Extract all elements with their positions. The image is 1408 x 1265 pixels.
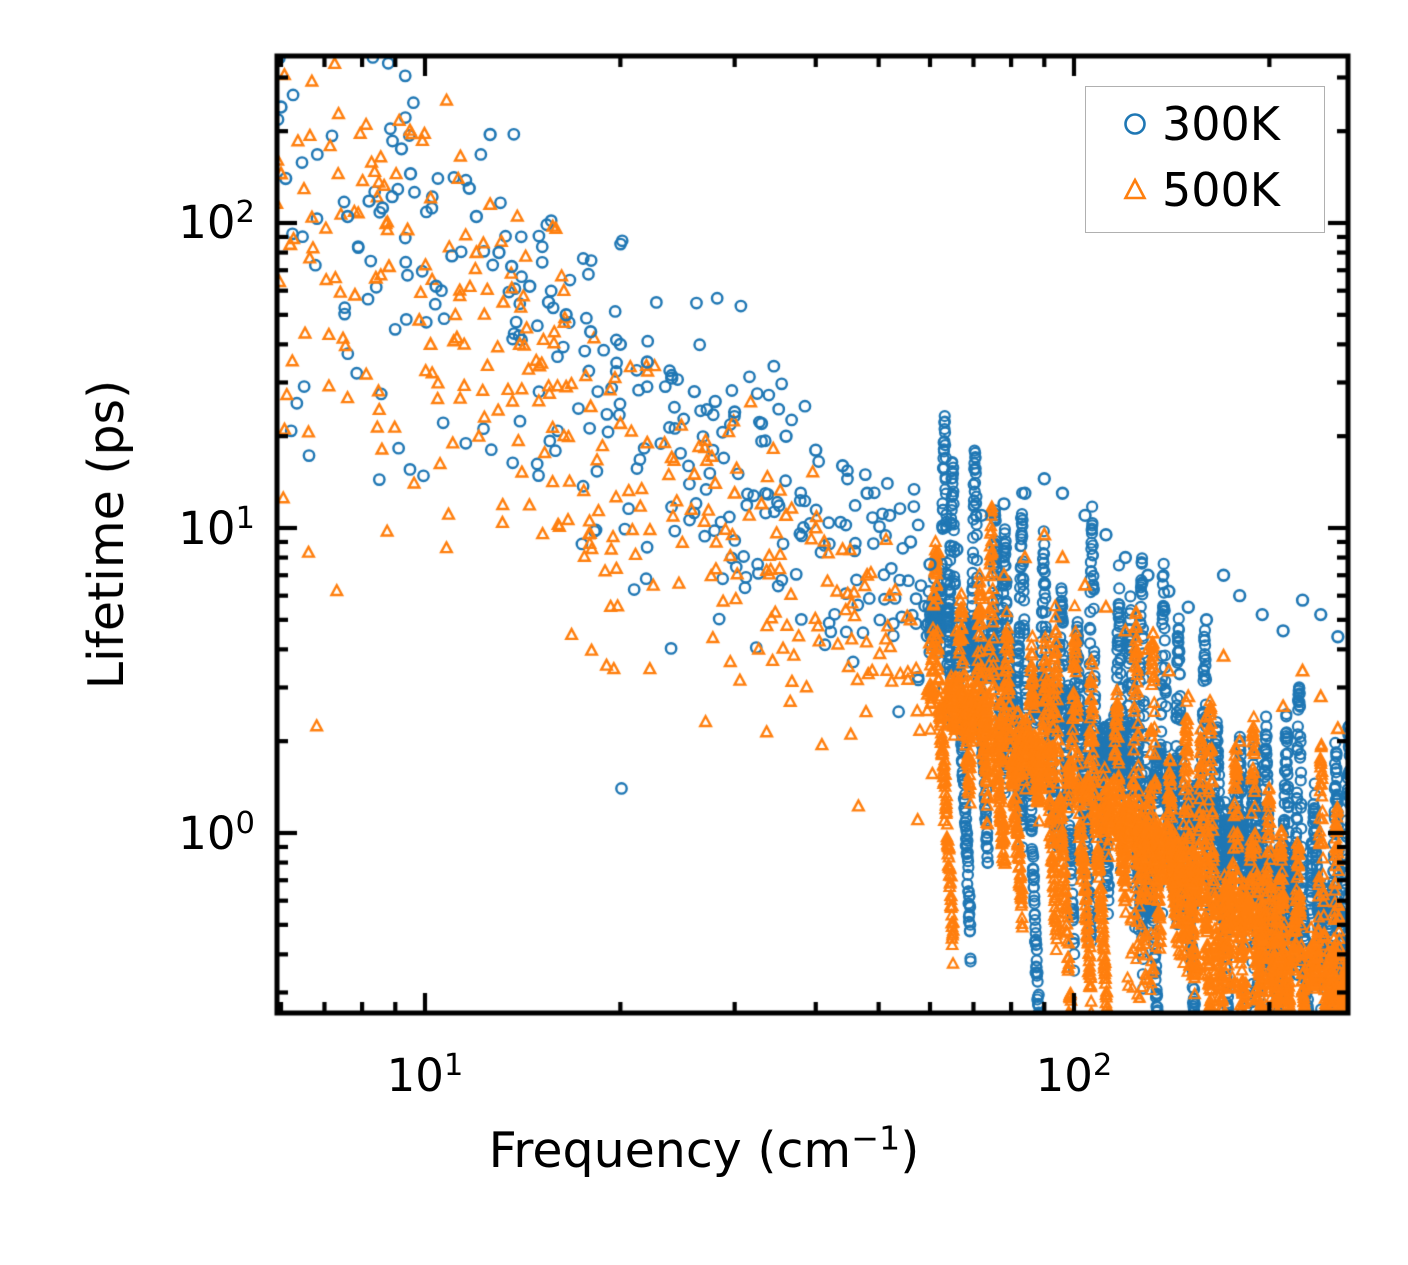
y-axis-label: Lifetime (ps) bbox=[78, 380, 135, 689]
figure-root: 101 102 100 101 102 Frequency (cm−1) Lif… bbox=[0, 0, 1408, 1265]
legend-label-300k: 300K bbox=[1162, 95, 1312, 153]
x-axis-label: Frequency (cm−1) bbox=[0, 1122, 1408, 1179]
legend-entry-300k: 300K bbox=[1086, 95, 1326, 153]
x-tick-label-10e2: 102 bbox=[1036, 1049, 1113, 1102]
x-tick-label-10e1: 101 bbox=[387, 1049, 464, 1102]
legend: 300K 500K bbox=[1085, 86, 1325, 233]
y-tick-label-10e0: 100 bbox=[178, 807, 255, 860]
y-tick-label-10e2: 102 bbox=[178, 196, 255, 249]
circle-open-marker bbox=[1112, 95, 1158, 153]
y-tick-label-10e1: 101 bbox=[178, 502, 255, 555]
legend-entry-500k: 500K bbox=[1086, 161, 1326, 219]
legend-label-500k: 500K bbox=[1162, 161, 1312, 219]
triangle-open-marker bbox=[1112, 161, 1158, 219]
